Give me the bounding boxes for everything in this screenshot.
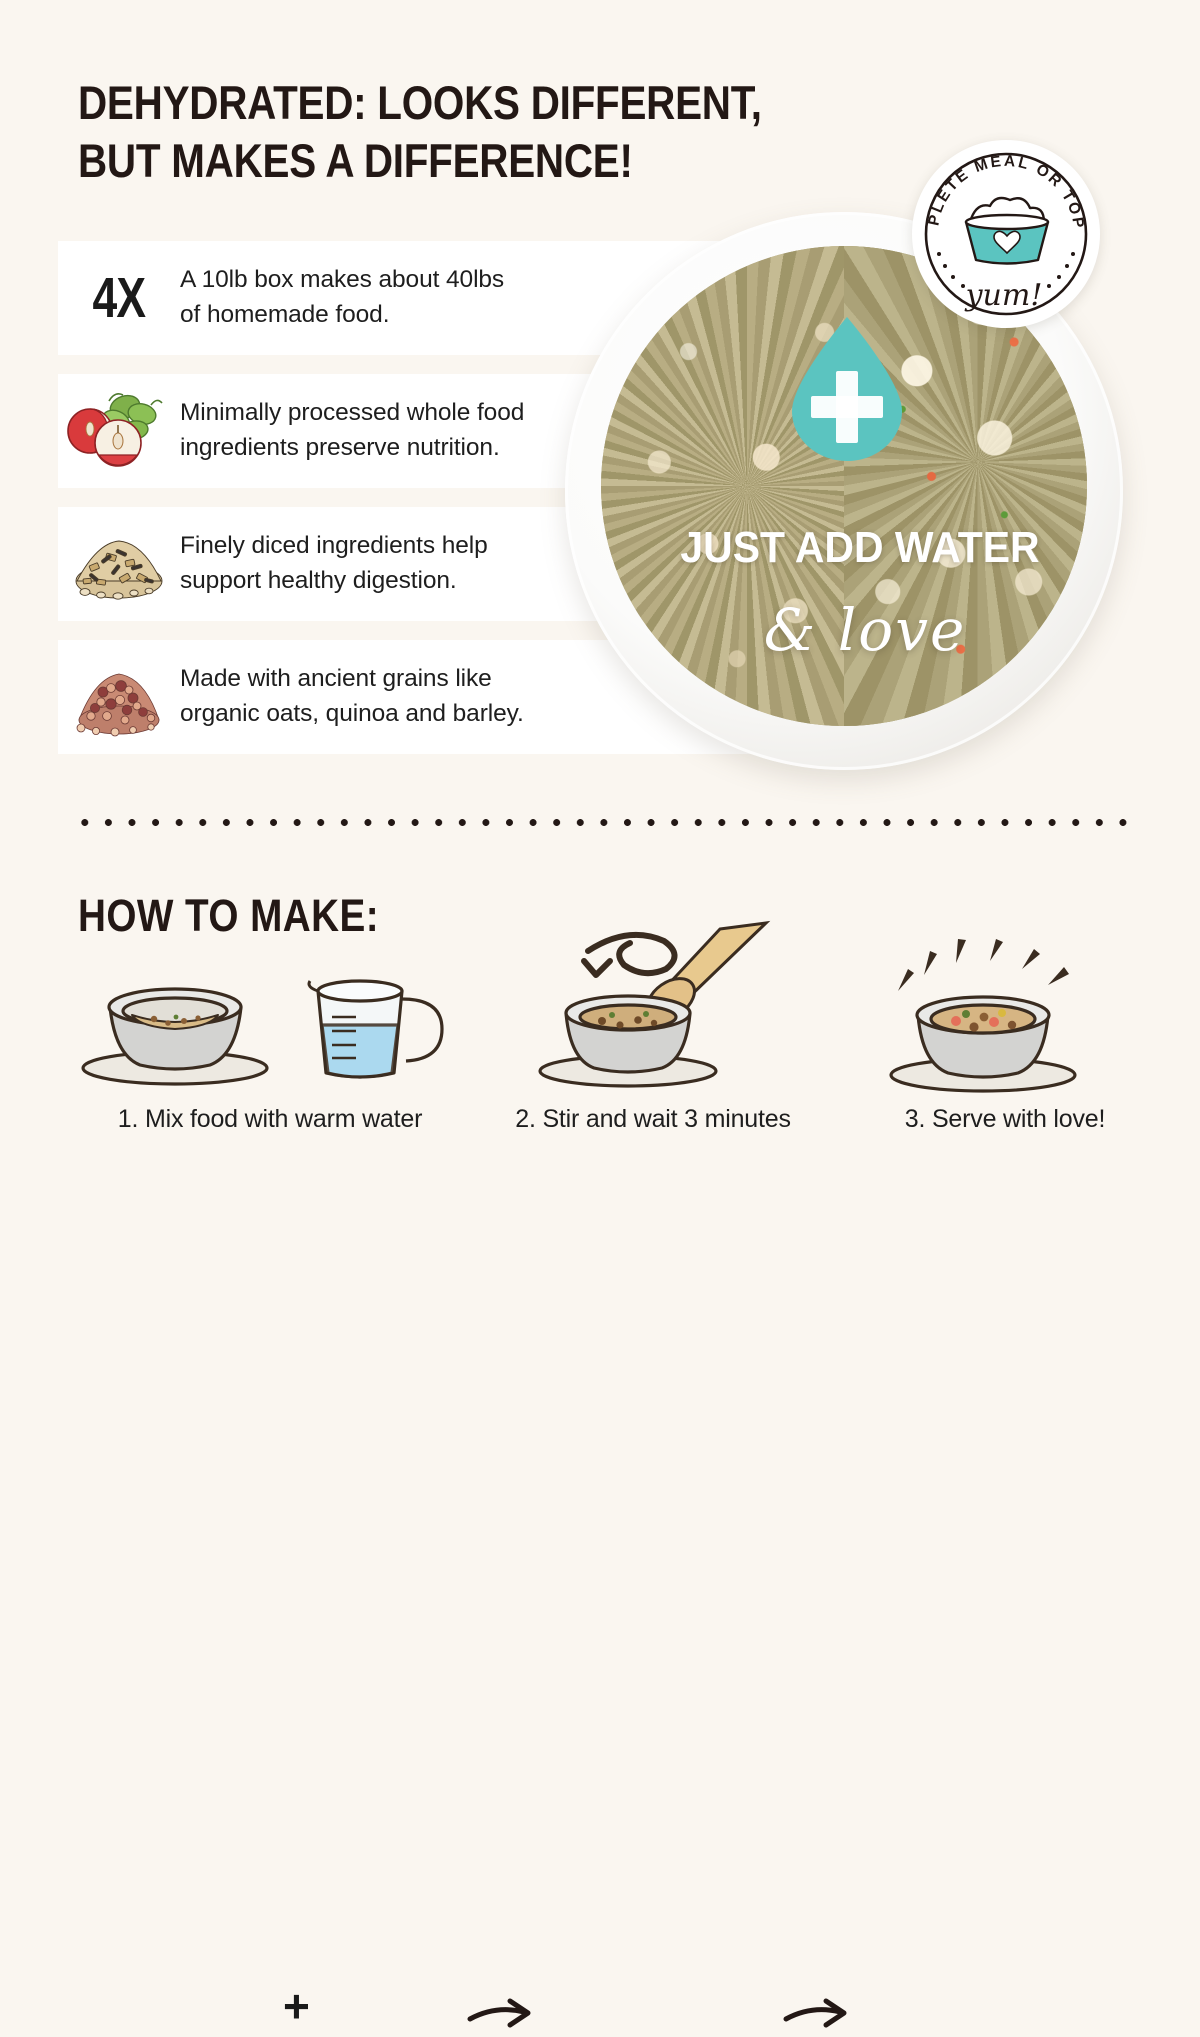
feature-text-line-1: Minimally processed whole food <box>180 399 524 426</box>
diced-ingredients-art <box>63 521 175 607</box>
feature-text-line-2: ingredients preserve nutrition. <box>180 434 500 461</box>
steps-container: 1. Mix food with warm water + <box>0 955 1200 1165</box>
title-line-2: BUT MAKES A DIFFERENCE! <box>78 132 732 190</box>
ancient-grains-icon <box>58 640 180 754</box>
step-2-caption: 2. Stir and wait 3 minutes <box>478 1105 828 1134</box>
step-1-art <box>70 955 470 1090</box>
step-3-caption: 3. Serve with love! <box>840 1105 1170 1134</box>
plus-icon: + <box>283 1983 310 2029</box>
4x-multiplier-icon: 4X <box>58 241 180 355</box>
dog-bowl-served-icon <box>891 997 1075 1091</box>
seal-script-text: yum! <box>964 278 1043 313</box>
step-2: 2. Stir and wait 3 minutes <box>478 913 828 1048</box>
feature-text-line-2: support healthy digestion. <box>180 567 457 594</box>
4x-label: 4X <box>93 265 146 331</box>
feature-text: A 10lb box makes about 40lbs of homemade… <box>180 263 516 333</box>
shine-marks-icon <box>898 939 1069 991</box>
step-3: 3. Serve with love! <box>840 935 1170 1070</box>
infographic-page: DEHYDRATED: LOOKS DIFFERENT, BUT MAKES A… <box>0 0 1200 1200</box>
dotted-divider <box>73 818 1129 827</box>
step-2-art <box>478 913 828 1048</box>
how-to-make-heading: HOW TO MAKE: <box>78 890 379 942</box>
feature-text-line-2: organic oats, quinoa and barley. <box>180 700 524 727</box>
measuring-cup-icon <box>309 981 442 1077</box>
ancient-grains-art <box>63 654 175 740</box>
title-line-1: DEHYDRATED: LOOKS DIFFERENT, <box>78 74 732 132</box>
step-3-art <box>840 935 1170 1070</box>
just-add-water-headline: JUST ADD WATER <box>674 523 1046 573</box>
feature-text-line-1: Finely diced ingredients help <box>180 532 488 559</box>
arrow-step2-to-step3-icon <box>782 1997 856 2037</box>
water-drop-plus-icon <box>786 315 908 463</box>
step-1-caption: 1. Mix food with warm water <box>70 1105 470 1134</box>
page-title: DEHYDRATED: LOOKS DIFFERENT, BUT MAKES A… <box>78 74 732 191</box>
step-1: 1. Mix food with warm water <box>70 955 470 1090</box>
feature-text: Finely diced ingredients help support he… <box>180 529 500 599</box>
and-love-script: & love <box>700 596 1030 664</box>
diced-ingredients-icon <box>58 507 180 621</box>
arrow-step1-to-step2-icon <box>466 1997 540 2037</box>
feature-text-line-2: of homemade food. <box>180 301 389 328</box>
stir-arrow-icon <box>584 935 675 975</box>
dog-bowl-with-food-icon <box>83 989 267 1084</box>
apple-and-greens-icon <box>58 374 180 488</box>
apple-greens-art <box>63 381 175 481</box>
feature-text-line-1: A 10lb box makes about 40lbs <box>180 266 504 293</box>
feature-text: Made with ancient grains like organic oa… <box>180 662 536 732</box>
complete-meal-or-topper-seal: COMPLETE MEAL OR TOPPER yum! <box>912 140 1100 328</box>
dog-bowl-stirring-icon <box>540 996 716 1086</box>
feature-text-line-1: Made with ancient grains like <box>180 665 492 692</box>
dog-bowl-heart-icon <box>966 198 1048 264</box>
feature-text: Minimally processed whole food ingredien… <box>180 396 536 466</box>
